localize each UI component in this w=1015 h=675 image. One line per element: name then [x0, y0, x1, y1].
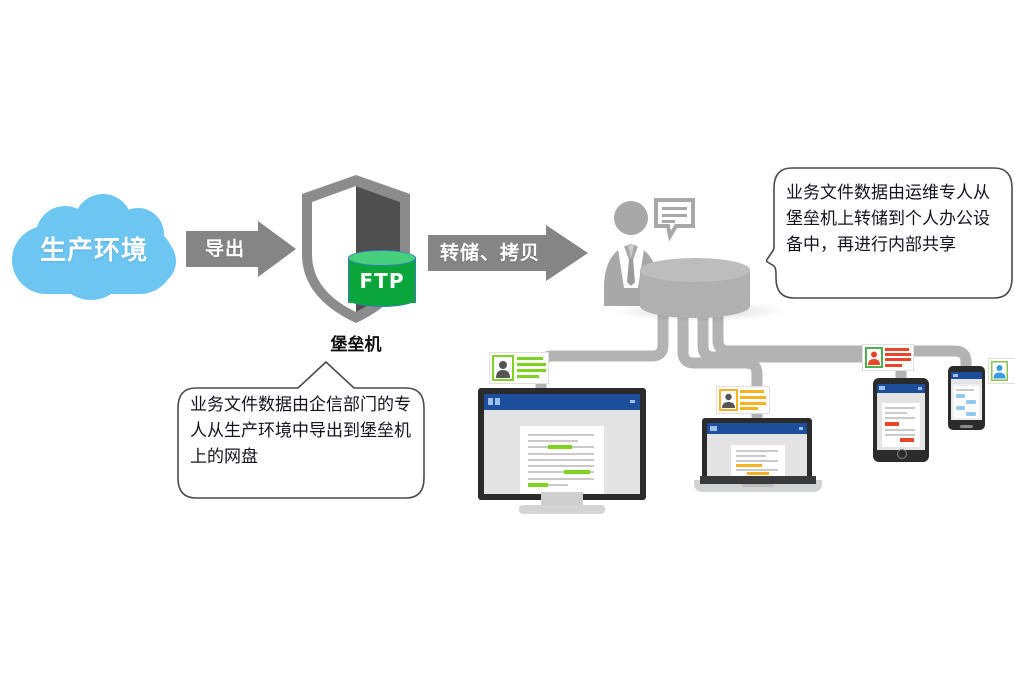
phone-home-bar[interactable]	[960, 425, 973, 428]
laptop-keyboard-deck	[700, 476, 816, 484]
diagram-canvas: 生产环境 导出 FTP 堡垒机 转储、拷贝	[0, 0, 1015, 675]
contact-card-phone	[988, 358, 1015, 384]
tablet-frame	[873, 378, 929, 462]
arrow-transfer-copy: 转储、拷贝	[428, 225, 588, 281]
production-environment-cloud: 生产环境	[8, 192, 180, 310]
tablet-screen	[877, 384, 925, 450]
laptop-screen	[707, 423, 807, 481]
arrow-export: 导出	[186, 221, 296, 277]
phone-screen	[951, 372, 982, 420]
monitor-screen	[484, 394, 640, 494]
cable-network	[0, 0, 1015, 675]
sharing-hub-icon	[640, 258, 750, 320]
phone-frame	[948, 366, 985, 430]
callout-right-text: 业务文件数据由运维专人从堡垒机上转储到个人办公设备中，再进行内部共享	[786, 180, 1002, 258]
ftp-label: FTP	[348, 269, 416, 293]
bastion-host-label: 堡垒机	[288, 330, 424, 355]
contact-card-desktop	[489, 352, 549, 384]
arrow-transfer-copy-label: 转储、拷贝	[428, 238, 552, 265]
monitor-frame	[478, 388, 646, 500]
contact-card-phone-lines	[990, 382, 1015, 406]
cloud-label: 生产环境	[8, 230, 180, 267]
arrow-export-label: 导出	[186, 234, 264, 261]
contact-card-tablet	[862, 344, 914, 371]
monitor-base	[519, 505, 605, 514]
callout-left-text: 业务文件数据由企信部门的专人从生产环境中导出到堡垒机上的网盘	[190, 392, 414, 470]
contact-card-laptop	[716, 386, 770, 414]
ftp-storage-icon: FTP	[348, 250, 416, 310]
tablet-home-button[interactable]	[897, 449, 907, 459]
